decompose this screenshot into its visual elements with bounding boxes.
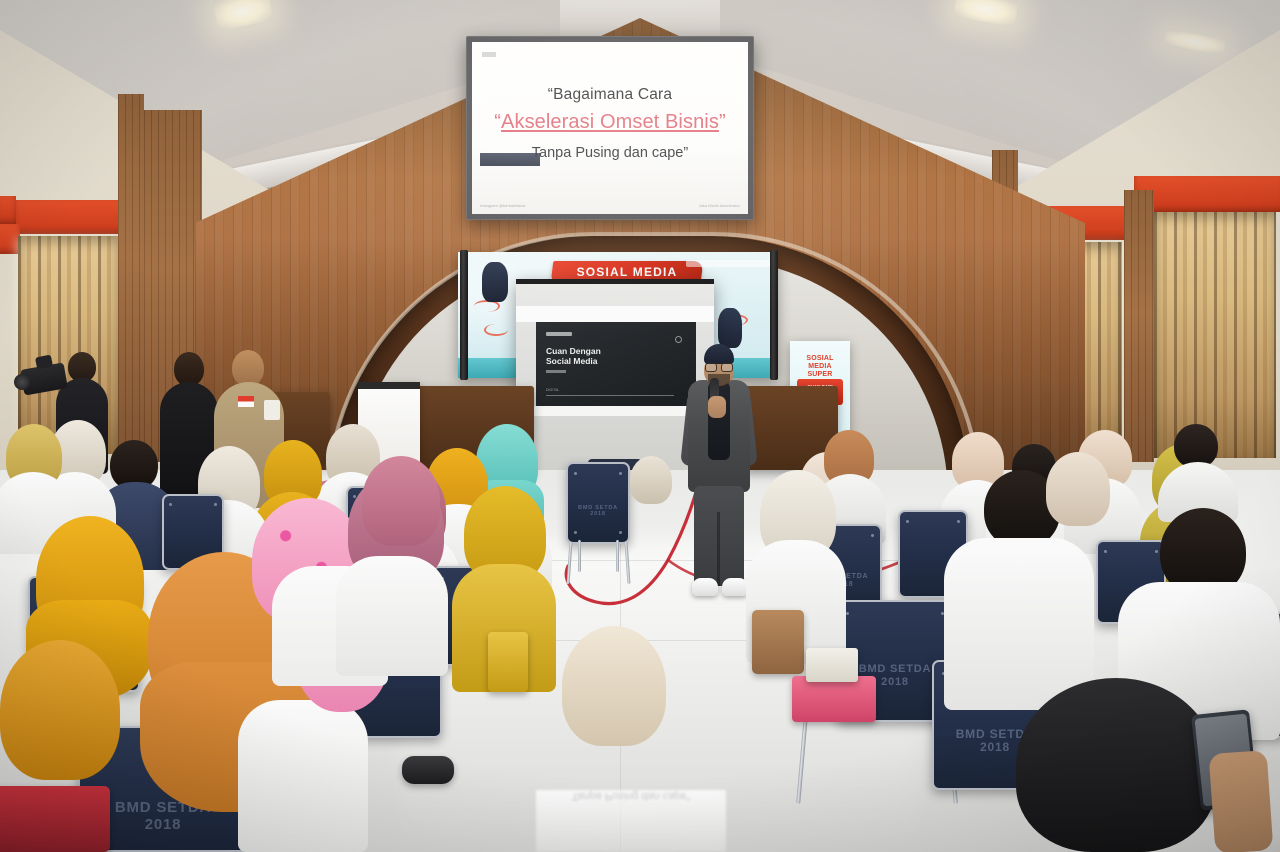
slide-line-2: “Akselerasi Omset Bisnis” bbox=[472, 111, 748, 134]
wall-wood-column bbox=[1124, 190, 1154, 462]
screen2-headline-line2: Social Media bbox=[546, 356, 601, 366]
backdrop-subtitle-bar bbox=[686, 260, 772, 267]
seminar-hall-photo: “Bagaimana Cara “Akselerasi Omset Bisnis… bbox=[0, 0, 1280, 852]
empty-chair[interactable]: BMD SETDA 2018 bbox=[566, 462, 630, 544]
rollup-title-line1: SOSIAL MEDIA bbox=[794, 355, 846, 371]
chair-leg bbox=[578, 540, 581, 572]
screen2-headline-line1: Cuan Dengan bbox=[546, 346, 601, 356]
floor-slide-reflection: Tanpa Pusing dan cape” bbox=[536, 790, 726, 852]
main-slide-surface: “Bagaimana Cara “Akselerasi Omset Bisnis… bbox=[472, 42, 748, 214]
truss-right bbox=[770, 250, 778, 380]
slide-footer-left: Instagram @berkahbisnis bbox=[480, 203, 525, 209]
paper-stack bbox=[806, 648, 858, 682]
wall-red-band bbox=[0, 196, 16, 224]
pink-folder bbox=[792, 676, 876, 722]
slide-quote-close: ” bbox=[719, 111, 726, 134]
audience-body-white bbox=[944, 538, 1094, 710]
backdrop-squiggle bbox=[484, 324, 508, 336]
screen2-headline: Cuan Dengan Social Media bbox=[546, 346, 601, 366]
screen2-highlight-band bbox=[516, 306, 714, 322]
hijab-cream-front bbox=[562, 626, 666, 746]
slide-footer-right: Jaka Bisnis Akselerator bbox=[699, 203, 740, 209]
speaker-shoe-left bbox=[692, 578, 718, 596]
screen2-divider bbox=[546, 395, 674, 396]
slide-headline: Akselerasi Omset Bisnis bbox=[501, 111, 719, 133]
staff-badge bbox=[264, 400, 280, 420]
audience-body-white bbox=[238, 700, 368, 852]
hijab-cream bbox=[630, 456, 672, 504]
flipchart-clamp bbox=[358, 382, 420, 389]
main-projection-screen: “Bagaimana Cara “Akselerasi Omset Bisnis… bbox=[466, 36, 754, 220]
chair-label-line2: 2018 bbox=[568, 511, 628, 517]
glasses-icon bbox=[705, 362, 733, 370]
hijab-cream bbox=[1046, 452, 1110, 526]
speaker-leg-split bbox=[717, 512, 720, 586]
wall-red-band bbox=[14, 200, 126, 234]
truss-left bbox=[460, 250, 468, 380]
wall-red-band bbox=[1134, 176, 1280, 212]
chair-label: BMD SETDA 2018 bbox=[568, 505, 628, 518]
speaker-shoe-right bbox=[722, 578, 748, 596]
wall-wood-column bbox=[118, 94, 144, 454]
screen2-subtitle-bar bbox=[546, 370, 566, 373]
red-handbag bbox=[0, 786, 110, 852]
slide-line-1: “Bagaimana Cara bbox=[472, 86, 748, 104]
chair-leg bbox=[616, 540, 619, 572]
curtain-right-outer bbox=[1154, 212, 1276, 458]
shoe bbox=[402, 756, 454, 784]
hand-holding-phone bbox=[1209, 750, 1274, 852]
backdrop-figure bbox=[718, 308, 742, 348]
hijab-black-front bbox=[1016, 678, 1216, 852]
screen2-dot-icon bbox=[675, 336, 682, 343]
hijab-amber bbox=[0, 640, 120, 780]
slide-corner-mark bbox=[482, 52, 496, 57]
screen2-lower-band bbox=[516, 406, 714, 416]
tan-handbag bbox=[752, 610, 804, 674]
hijab-rose bbox=[362, 456, 440, 546]
staff-head bbox=[232, 350, 264, 386]
slide-line-3: Tanpa Pusing dan cape” bbox=[472, 145, 748, 161]
slide-footer: Instagram @berkahbisnis Jaka Bisnis Akse… bbox=[480, 203, 740, 209]
chair-label-line1: BMD SETDA bbox=[568, 505, 628, 511]
screen2-slide: Cuan Dengan Social Media DIGITAL bbox=[536, 322, 696, 406]
audience-body-white bbox=[336, 556, 448, 676]
indonesia-flag-patch-icon bbox=[238, 396, 254, 407]
slide-text-block: “Bagaimana Cara “Akselerasi Omset Bisnis… bbox=[472, 86, 748, 161]
speaker-hands bbox=[708, 396, 726, 418]
screen2-footer-label: DIGITAL bbox=[546, 388, 559, 392]
man-black-head bbox=[174, 352, 204, 386]
backdrop-figure bbox=[482, 262, 508, 302]
screen2-brand-mark bbox=[546, 332, 572, 336]
floor-reflection-text: Tanpa Pusing dan cape” bbox=[536, 790, 726, 830]
yellow-bag bbox=[488, 632, 528, 692]
